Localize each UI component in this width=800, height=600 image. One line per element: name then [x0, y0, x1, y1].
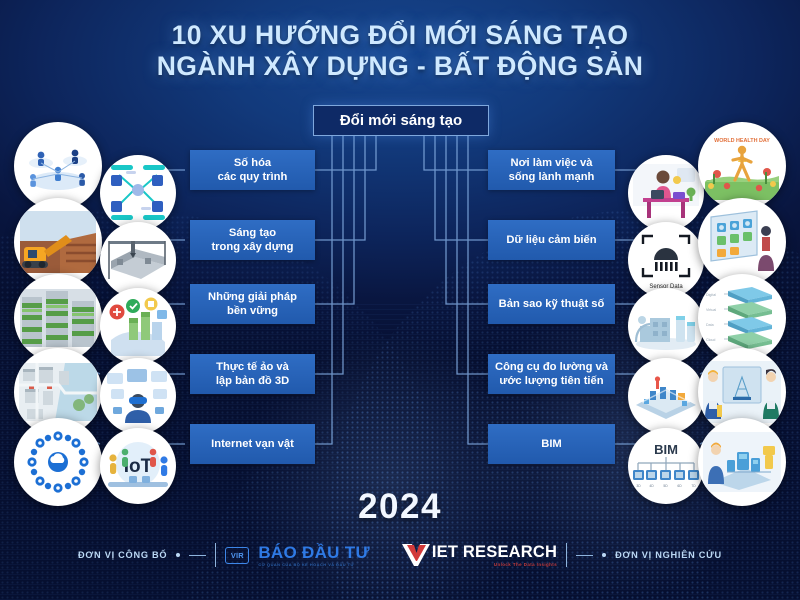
people-network-icon	[21, 129, 95, 203]
engineers-blueprint-icon	[703, 361, 781, 423]
bubble-world-health-day: WORLD HEALTH DAY	[698, 122, 786, 210]
viet-research-tagline: Unlock The Data Insights	[432, 562, 557, 567]
bim-diagram-icon: BIM 3D4D5D6D7D	[631, 440, 701, 492]
publisher-label: ĐƠN VỊ CÔNG BỐ	[78, 550, 167, 560]
viet-research-name: IET RESEARCH	[432, 544, 557, 561]
bubble-eco-city-hand	[100, 288, 176, 364]
trend-label-1: Số hóa các quy trình	[218, 156, 288, 184]
bim-worker-icon	[703, 432, 781, 492]
bubble-vr-headset-user	[100, 358, 176, 434]
page-title: 10 XU HƯỚNG ĐỔI MỚI SÁNG TẠO NGÀNH XÂY D…	[0, 20, 800, 82]
svg-text:IoT: IoT	[124, 456, 153, 477]
bubble-excavator	[14, 198, 102, 286]
3d-printer-house-icon	[105, 235, 171, 285]
center-node-label: Đổi mới sáng tạo	[340, 112, 462, 129]
trend-box-2[interactable]: Sáng tạo trong xây dựng	[190, 220, 315, 260]
bubble-3d-printer-house	[100, 222, 176, 298]
city-map-3d-icon	[19, 363, 97, 421]
svg-text:Data: Data	[706, 323, 714, 327]
eco-city-hand-icon	[105, 296, 171, 356]
trend-label-5: Internet vạn vật	[211, 437, 294, 451]
bim-caption: BIM	[654, 442, 678, 457]
workflow-digital-icon	[105, 163, 171, 223]
trend-label-9: Công cụ đo lường và ước lượng tiên tiến	[495, 360, 608, 388]
bao-dau-tu-tagline: CƠ QUAN CỦA BỘ KẾ HOẠCH VÀ ĐẦU TƯ	[258, 562, 370, 567]
trend-box-5[interactable]: Internet vạn vật	[190, 424, 315, 464]
bubble-digital-twin-factory	[628, 288, 704, 364]
site-measure-icon	[632, 371, 700, 421]
research-dot	[602, 553, 606, 557]
viet-research-text: IET RESEARCH Unlock The Data Insights	[432, 544, 557, 567]
trend-label-8: Bản sao kỹ thuật số	[499, 297, 605, 311]
trend-label-2: Sáng tạo trong xây dựng	[211, 226, 293, 254]
research-label: ĐƠN VỊ NGHIÊN CỨU	[615, 550, 722, 560]
vir-badge: VIR	[225, 547, 249, 564]
trend-box-8[interactable]: Bản sao kỹ thuật số	[488, 284, 615, 324]
trend-label-4: Thực tế ảo và lập bản đồ 3D	[216, 360, 289, 388]
trend-label-3: Những giải pháp bền vững	[208, 290, 297, 318]
bubble-sensor-scan: Sensor Data	[628, 222, 704, 298]
infographic-canvas: 10 XU HƯỚNG ĐỔI MỚI SÁNG TẠO NGÀNH XÂY D…	[0, 0, 800, 600]
research-divider	[566, 543, 567, 567]
trend-box-6[interactable]: Nơi làm việc và sống lành mạnh	[488, 150, 615, 190]
world-health-day-caption: WORLD HEALTH DAY	[714, 138, 770, 144]
trend-label-7: Dữ liệu cảm biến	[506, 233, 596, 247]
trend-box-9[interactable]: Công cụ đo lường và ước lượng tiên tiến	[488, 354, 615, 394]
bao-dau-tu-name: BÁO ĐẦU TƯ	[258, 544, 370, 561]
sensor-scan-icon: Sensor Data	[633, 228, 699, 292]
footer-bar: ĐƠN VỊ CÔNG BỐ VIR BÁO ĐẦU TƯ CƠ QUAN CỦ…	[0, 538, 800, 572]
svg-text:Virtual: Virtual	[706, 308, 716, 312]
trend-box-10[interactable]: BIM	[488, 424, 615, 464]
bubble-healthy-workspace	[628, 155, 704, 231]
iot-people-icon: IoT	[104, 438, 172, 494]
trend-box-4[interactable]: Thực tế ảo và lập bản đồ 3D	[190, 354, 315, 394]
server-racks-icon: DigitalVirtualDataCloud	[702, 285, 782, 351]
trend-label-6: Nơi làm việc và sống lành mạnh	[509, 156, 595, 184]
year-label: 2024	[0, 487, 800, 527]
bao-dau-tu-logo[interactable]: BÁO ĐẦU TƯ CƠ QUAN CỦA BỘ KẾ HOẠCH VÀ ĐẦ…	[258, 544, 370, 567]
publisher-line	[189, 555, 206, 556]
bubble-people-network	[14, 122, 102, 210]
trend-label-10: BIM	[541, 437, 562, 451]
data-dashboard-icon	[703, 209, 781, 275]
digital-twin-factory-icon	[632, 300, 700, 352]
excavator-icon	[20, 211, 96, 273]
publisher-divider	[215, 543, 216, 567]
viet-research-v-icon	[401, 542, 431, 568]
publisher-dot	[176, 553, 180, 557]
bubble-site-measure	[628, 358, 704, 434]
healthy-workspace-icon	[633, 164, 699, 222]
trend-box-7[interactable]: Dữ liệu cảm biến	[488, 220, 615, 260]
bubble-workflow-digital	[100, 155, 176, 231]
svg-text:Cloud: Cloud	[706, 338, 715, 342]
green-building-icon	[20, 289, 96, 347]
center-node[interactable]: Đổi mới sáng tạo	[313, 105, 489, 136]
viet-research-logo[interactable]: IET RESEARCH Unlock The Data Insights	[401, 542, 557, 568]
trend-box-3[interactable]: Những giải pháp bền vững	[190, 284, 315, 324]
bubble-data-dashboard	[698, 198, 786, 286]
svg-text:Digital: Digital	[706, 293, 716, 297]
trend-box-1[interactable]: Số hóa các quy trình	[190, 150, 315, 190]
vr-headset-user-icon	[105, 367, 171, 425]
world-health-day-icon: WORLD HEALTH DAY	[703, 130, 781, 202]
research-line	[576, 555, 593, 556]
